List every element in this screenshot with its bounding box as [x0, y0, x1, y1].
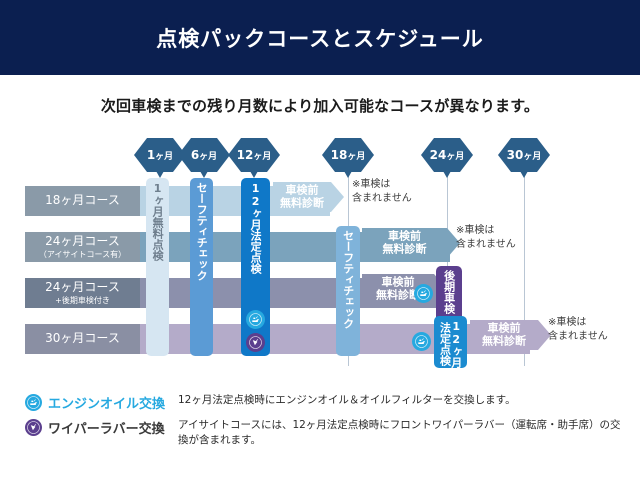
legend: エンジンオイル交換12ヶ月法定点検時にエンジンオイル＆オイルフィルターを交換しま… — [25, 393, 625, 454]
wiper-icon — [246, 333, 265, 352]
marker-pointer-24m — [443, 171, 451, 178]
marker-value: 1 — [147, 148, 155, 162]
oil-can-icon — [412, 332, 431, 351]
marker-pointer-1m — [156, 171, 164, 178]
course-label-row-3: 30ヶ月コース — [25, 324, 140, 354]
arrow-label: 車検前 無料診断 — [470, 322, 538, 347]
course-label-row-2: 24ヶ月コース+後期車検付き — [25, 278, 140, 308]
disclaimer-note-2: ※車検は 含まれません — [548, 316, 608, 343]
course-label-main: 24ヶ月コース — [45, 281, 120, 295]
timeline-marker-24m: 24ヶ月 — [421, 138, 473, 172]
service-bar-label: 後期車検 — [443, 270, 454, 314]
timeline-marker-12m: 12ヶ月 — [228, 138, 280, 172]
service-bar-label-secondary: 12ヶ月 — [451, 320, 462, 368]
marker-value: 18 — [331, 148, 348, 162]
legend-description: アイサイトコースには、12ヶ月法定点検時にフロントワイパーラバー（運転席・助手席… — [178, 418, 625, 448]
marker-unit: ヶ月 — [155, 149, 173, 162]
marker-value: 30 — [507, 148, 524, 162]
infographic-page: 点検パックコースとスケジュール 次回車検までの残り月数により加入可能なコースが異… — [0, 0, 640, 480]
marker-value: 24 — [430, 148, 447, 162]
legend-term: ワイパーラバー交換 — [48, 418, 178, 437]
marker-unit: ヶ月 — [523, 149, 541, 162]
course-label-row-0: 18ヶ月コース — [25, 186, 140, 216]
service-bar-5: 法定点検12ヶ月 — [434, 316, 467, 368]
oil-can-icon — [246, 310, 265, 329]
service-bar-label: 法定点検 — [439, 322, 450, 366]
legend-term: エンジンオイル交換 — [48, 393, 178, 412]
arrow-head-icon — [331, 182, 344, 212]
service-bar-0: 1ヶ月無料点検 — [146, 178, 169, 356]
course-label-sub: +後期車検付き — [55, 296, 110, 305]
marker-unit: ヶ月 — [199, 149, 217, 162]
timeline-marker-18m: 18ヶ月 — [322, 138, 374, 172]
course-label-sub: （アイサイトコース有） — [39, 250, 126, 259]
arrow-label: 車検前 無料診断 — [362, 230, 447, 255]
service-bar-2: 12ヶ月法定点検 — [241, 178, 270, 356]
oil-can-icon — [25, 394, 42, 411]
pre-inspection-arrow-row-3: 車検前 無料診断 — [470, 320, 538, 350]
marker-pointer-12m — [250, 171, 258, 178]
course-label-row-1: 24ヶ月コース（アイサイトコース有） — [25, 232, 140, 262]
legend-description: 12ヶ月法定点検時にエンジンオイル＆オイルフィルターを交換します。 — [178, 393, 625, 408]
marker-pointer-30m — [520, 171, 528, 178]
pre-inspection-arrow-row-0: 車検前 無料診断 — [273, 182, 331, 212]
schedule-chart: 1ヶ月6ヶ月12ヶ月18ヶ月24ヶ月30ヶ月 18ヶ月コース24ヶ月コース（アイ… — [0, 138, 640, 383]
pre-inspection-arrow-row-1: 車検前 無料診断 — [362, 228, 447, 258]
course-label-main: 30ヶ月コース — [45, 332, 120, 346]
service-bar-label: セーフティチェック — [342, 230, 353, 329]
disclaimer-note-1: ※車検は 含まれません — [456, 224, 516, 251]
wiper-icon — [25, 419, 42, 436]
course-label-main: 24ヶ月コース — [45, 235, 120, 249]
service-bar-1: セーフティチェック — [190, 178, 213, 356]
timeline-marker-30m: 30ヶ月 — [498, 138, 550, 172]
course-label-main: 18ヶ月コース — [45, 194, 120, 208]
marker-value: 12 — [237, 148, 254, 162]
oil-can-icon — [414, 284, 433, 303]
marker-unit: ヶ月 — [446, 149, 464, 162]
service-bar-label: 12ヶ月法定点検 — [250, 182, 261, 274]
page-title: 点検パックコースとスケジュール — [156, 23, 483, 53]
subtitle-text: 次回車検までの残り月数により加入可能なコースが異なります。 — [0, 95, 640, 116]
service-bar-3: セーフティチェック — [336, 226, 360, 356]
arrow-label: 車検前 無料診断 — [273, 184, 331, 209]
marker-pointer-6m — [200, 171, 208, 178]
service-bar-label: 1ヶ月無料点検 — [152, 182, 163, 261]
marker-unit: ヶ月 — [253, 149, 271, 162]
legend-row-0: エンジンオイル交換12ヶ月法定点検時にエンジンオイル＆オイルフィルターを交換しま… — [25, 393, 625, 412]
legend-row-1: ワイパーラバー交換アイサイトコースには、12ヶ月法定点検時にフロントワイパーラバ… — [25, 418, 625, 448]
timeline-marker-6m: 6ヶ月 — [178, 138, 230, 172]
marker-unit: ヶ月 — [347, 149, 365, 162]
service-bar-label: セーフティチェック — [196, 182, 207, 281]
page-header: 点検パックコースとスケジュール — [0, 0, 640, 75]
marker-value: 6 — [191, 148, 199, 162]
marker-pointer-18m — [344, 171, 352, 178]
disclaimer-note-0: ※車検は 含まれません — [352, 178, 412, 205]
